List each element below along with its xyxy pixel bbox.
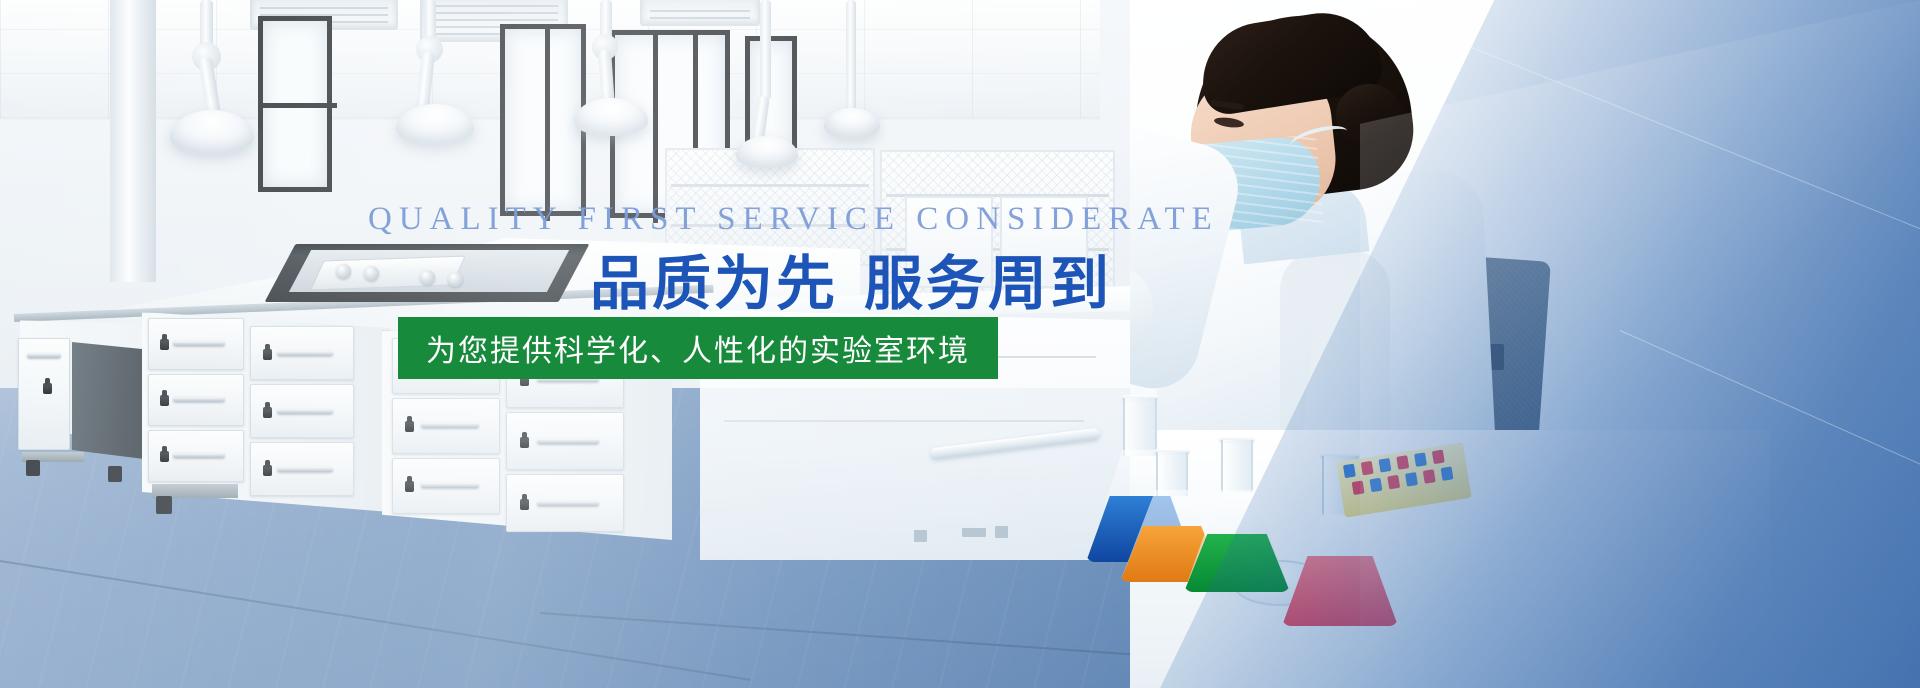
banner-eyebrow-text: QUALITY FIRST SERVICE CONSIDERATE [368,203,1219,236]
banner-subtitle-text: 为您提供科学化、人性化的实验室环境 [426,326,970,370]
hero-banner: QUALITY FIRST SERVICE CONSIDERATE 品质为先服务… [0,0,1920,688]
banner-copy: QUALITY FIRST SERVICE CONSIDERATE 品质为先服务… [0,0,1920,688]
banner-subtitle-band: 为您提供科学化、人性化的实验室环境 [398,317,998,379]
banner-headline: 品质为先服务周到 [590,253,1112,317]
headline-part-1: 品质为先 [590,251,838,317]
headline-part-2: 服务周到 [864,251,1112,317]
